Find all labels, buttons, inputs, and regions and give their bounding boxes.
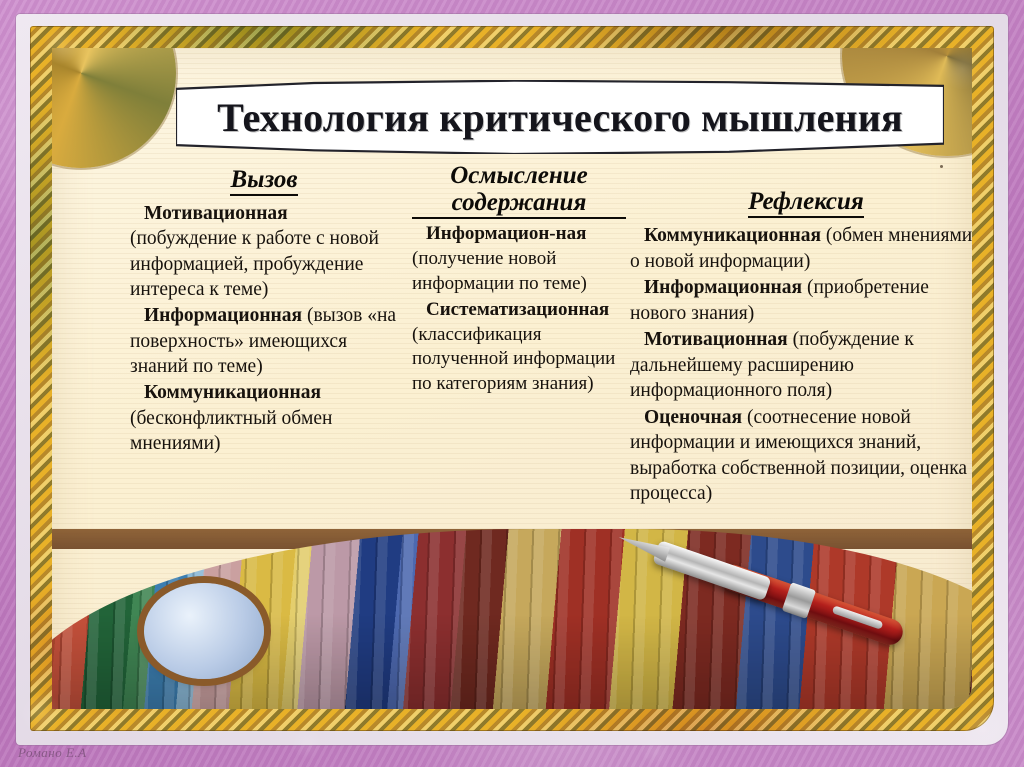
column-vyzov-heading-wrap: Вызов [130,166,398,196]
column-vyzov-heading: Вызов [230,166,297,196]
list-item: Мотивационная (побуждение к работе с нов… [130,201,398,302]
pen-nib [616,531,670,562]
list-item: Систематизационная (классификация получе… [412,298,626,398]
page-title: Технология критического мышления [176,80,944,154]
term-description: (бесконфликтный обмен мнениями) [130,408,332,454]
term-label: Оценочная [644,407,742,428]
blue-sphere-icon [144,583,264,679]
term-label: Информационная [144,305,302,326]
column-osmyslenie-heading: Осмысление содержания [412,162,626,219]
column-vyzov: Вызов Мотивационная (побуждение к работе… [130,166,398,457]
column-osmyslenie: Осмысление содержания Информацион-ная (п… [412,166,626,398]
bottom-photo-band [52,529,972,709]
column-osmyslenie-heading-wrap: Осмысление содержания [412,162,626,219]
term-label: Мотивационная [644,329,788,350]
term-description: (получение новой информации по теме) [412,248,587,294]
slide-root: Технология критического мышления Вызов М… [0,0,1024,767]
column-refleksiya-heading: Рефлексия [748,188,864,218]
term-label: Коммуникационная [144,382,321,403]
list-item: Информационная (приобретение нового знан… [630,275,972,326]
corner-ornament-top-left-icon [52,48,176,168]
list-item: Информационная (вызов «на поверхность» и… [130,303,398,379]
term-label: Информацион-ная [426,223,586,244]
term-label: Систематизационная [426,299,609,320]
list-item: Оценочная (соотнесение новой информации … [630,405,972,507]
term-label: Коммуникационная [644,225,821,246]
author-signature: Романо Е.А [18,745,87,761]
term-label: Мотивационная [144,203,288,224]
column-refleksiya: Рефлексия Коммуникационная (обмен мнения… [630,166,972,508]
term-description: (побуждение к работе с новой информацией… [130,228,379,300]
list-item: Коммуникационная (обмен мнениями о новой… [630,223,972,274]
column-refleksiya-heading-wrap: Рефлексия [630,188,972,218]
list-item: Мотивационная (побуждение к дальнейшему … [630,327,972,404]
term-label: Информационная [644,277,802,298]
paper-surface: Технология критического мышления Вызов М… [52,48,972,709]
list-item: Коммуникационная (бесконфликтный обмен м… [130,380,398,456]
list-item: Информацион-ная (получение новой информа… [412,222,626,297]
term-description: (классификация полученной информации по … [412,324,615,395]
